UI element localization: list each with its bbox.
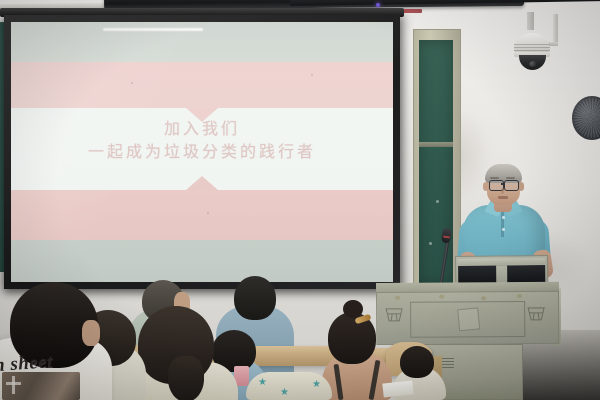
- student-ponytail: [168, 356, 204, 400]
- chalk-mark: [436, 200, 439, 203]
- student-hair-bun: [343, 300, 363, 318]
- podium-paper: [457, 307, 480, 331]
- presenter-eyebrow-left: [490, 177, 499, 179]
- slide-notch-bottom: [186, 176, 218, 190]
- tshirt-graphic-cross-bar: [6, 382, 21, 385]
- glasses-lens-right-icon: [504, 180, 519, 191]
- slide-headline: 加入我们: [11, 118, 393, 141]
- monitor-top-bar: [458, 258, 545, 265]
- presenter-mouth: [498, 196, 508, 199]
- slide-band-gray-bottom: [11, 240, 393, 282]
- slide-subheadline: 一起成为垃圾分类的践行者: [11, 141, 393, 164]
- podium-stain: [395, 296, 400, 300]
- star-motif-icon: ★: [280, 388, 289, 398]
- projector-highlight-streak: [103, 28, 203, 31]
- presenter-shirt-button: [502, 216, 505, 219]
- star-motif-icon: ★: [312, 380, 321, 390]
- camera-lens-icon: [529, 61, 537, 67]
- student-head: [400, 346, 434, 378]
- slide-speck: [207, 212, 209, 214]
- trash-bin-icon: [385, 307, 403, 322]
- podium-stain: [481, 296, 486, 300]
- projected-slide: 加入我们 一起成为垃圾分类的践行者: [11, 22, 393, 282]
- trash-bin-icon: [527, 306, 545, 321]
- tshirt-graphic-cross: [12, 376, 15, 394]
- presenter-nose: [501, 188, 504, 194]
- presenter-eyebrow-right: [506, 177, 515, 179]
- presenter-shirt-button: [502, 228, 505, 231]
- slide-speck: [311, 74, 313, 76]
- student-ear: [82, 320, 100, 346]
- podium-stain: [439, 295, 444, 299]
- chalk-mark: [429, 242, 432, 245]
- presenter-shirt-placket: [501, 211, 504, 237]
- slide-band-pink-top: [11, 62, 393, 108]
- camera-mount: [527, 12, 534, 30]
- classroom-photo-scene: 加入我们 一起成为垃圾分类的践行者: [0, 0, 600, 400]
- chalk-tray: [419, 142, 453, 147]
- slide-speck: [131, 82, 133, 84]
- display-power-led-icon: [376, 3, 380, 7]
- lectern: [376, 291, 559, 345]
- camera-bracket: [553, 14, 558, 44]
- podium-stain: [517, 294, 522, 298]
- slide-band-pink-bottom: [11, 190, 393, 240]
- slide-text-block: 加入我们 一起成为垃圾分类的践行者: [11, 118, 393, 164]
- glasses-bridge: [501, 183, 505, 185]
- student-head: [234, 276, 276, 320]
- star-motif-icon: ★: [258, 378, 267, 388]
